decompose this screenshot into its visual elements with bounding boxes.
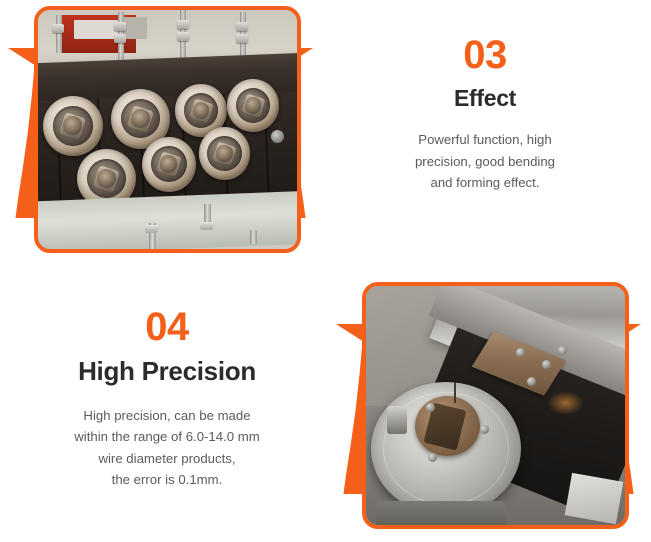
- feature-description-03: Powerful function, high precision, good …: [360, 129, 610, 194]
- feature-photo-03: [8, 6, 313, 253]
- photo-image-03: [38, 10, 297, 249]
- feature-title-03: Effect: [360, 85, 610, 111]
- feature-text-04: 04 High Precision High precision, can be…: [42, 306, 292, 491]
- feature-text-03: 03 Effect Powerful function, high precis…: [360, 34, 610, 194]
- photo-frame-03: [34, 6, 301, 253]
- feature-number-04: 04: [42, 306, 292, 348]
- feature-description-04: High precision, can be made within the r…: [42, 405, 292, 491]
- photo-frame-04: [362, 282, 629, 529]
- feature-photo-04: [336, 282, 641, 529]
- feature-sections-page: 03 Effect Powerful function, high precis…: [0, 0, 651, 542]
- feature-title-04: High Precision: [42, 357, 292, 387]
- feature-number-03: 03: [360, 34, 610, 76]
- photo-image-04: [366, 286, 625, 525]
